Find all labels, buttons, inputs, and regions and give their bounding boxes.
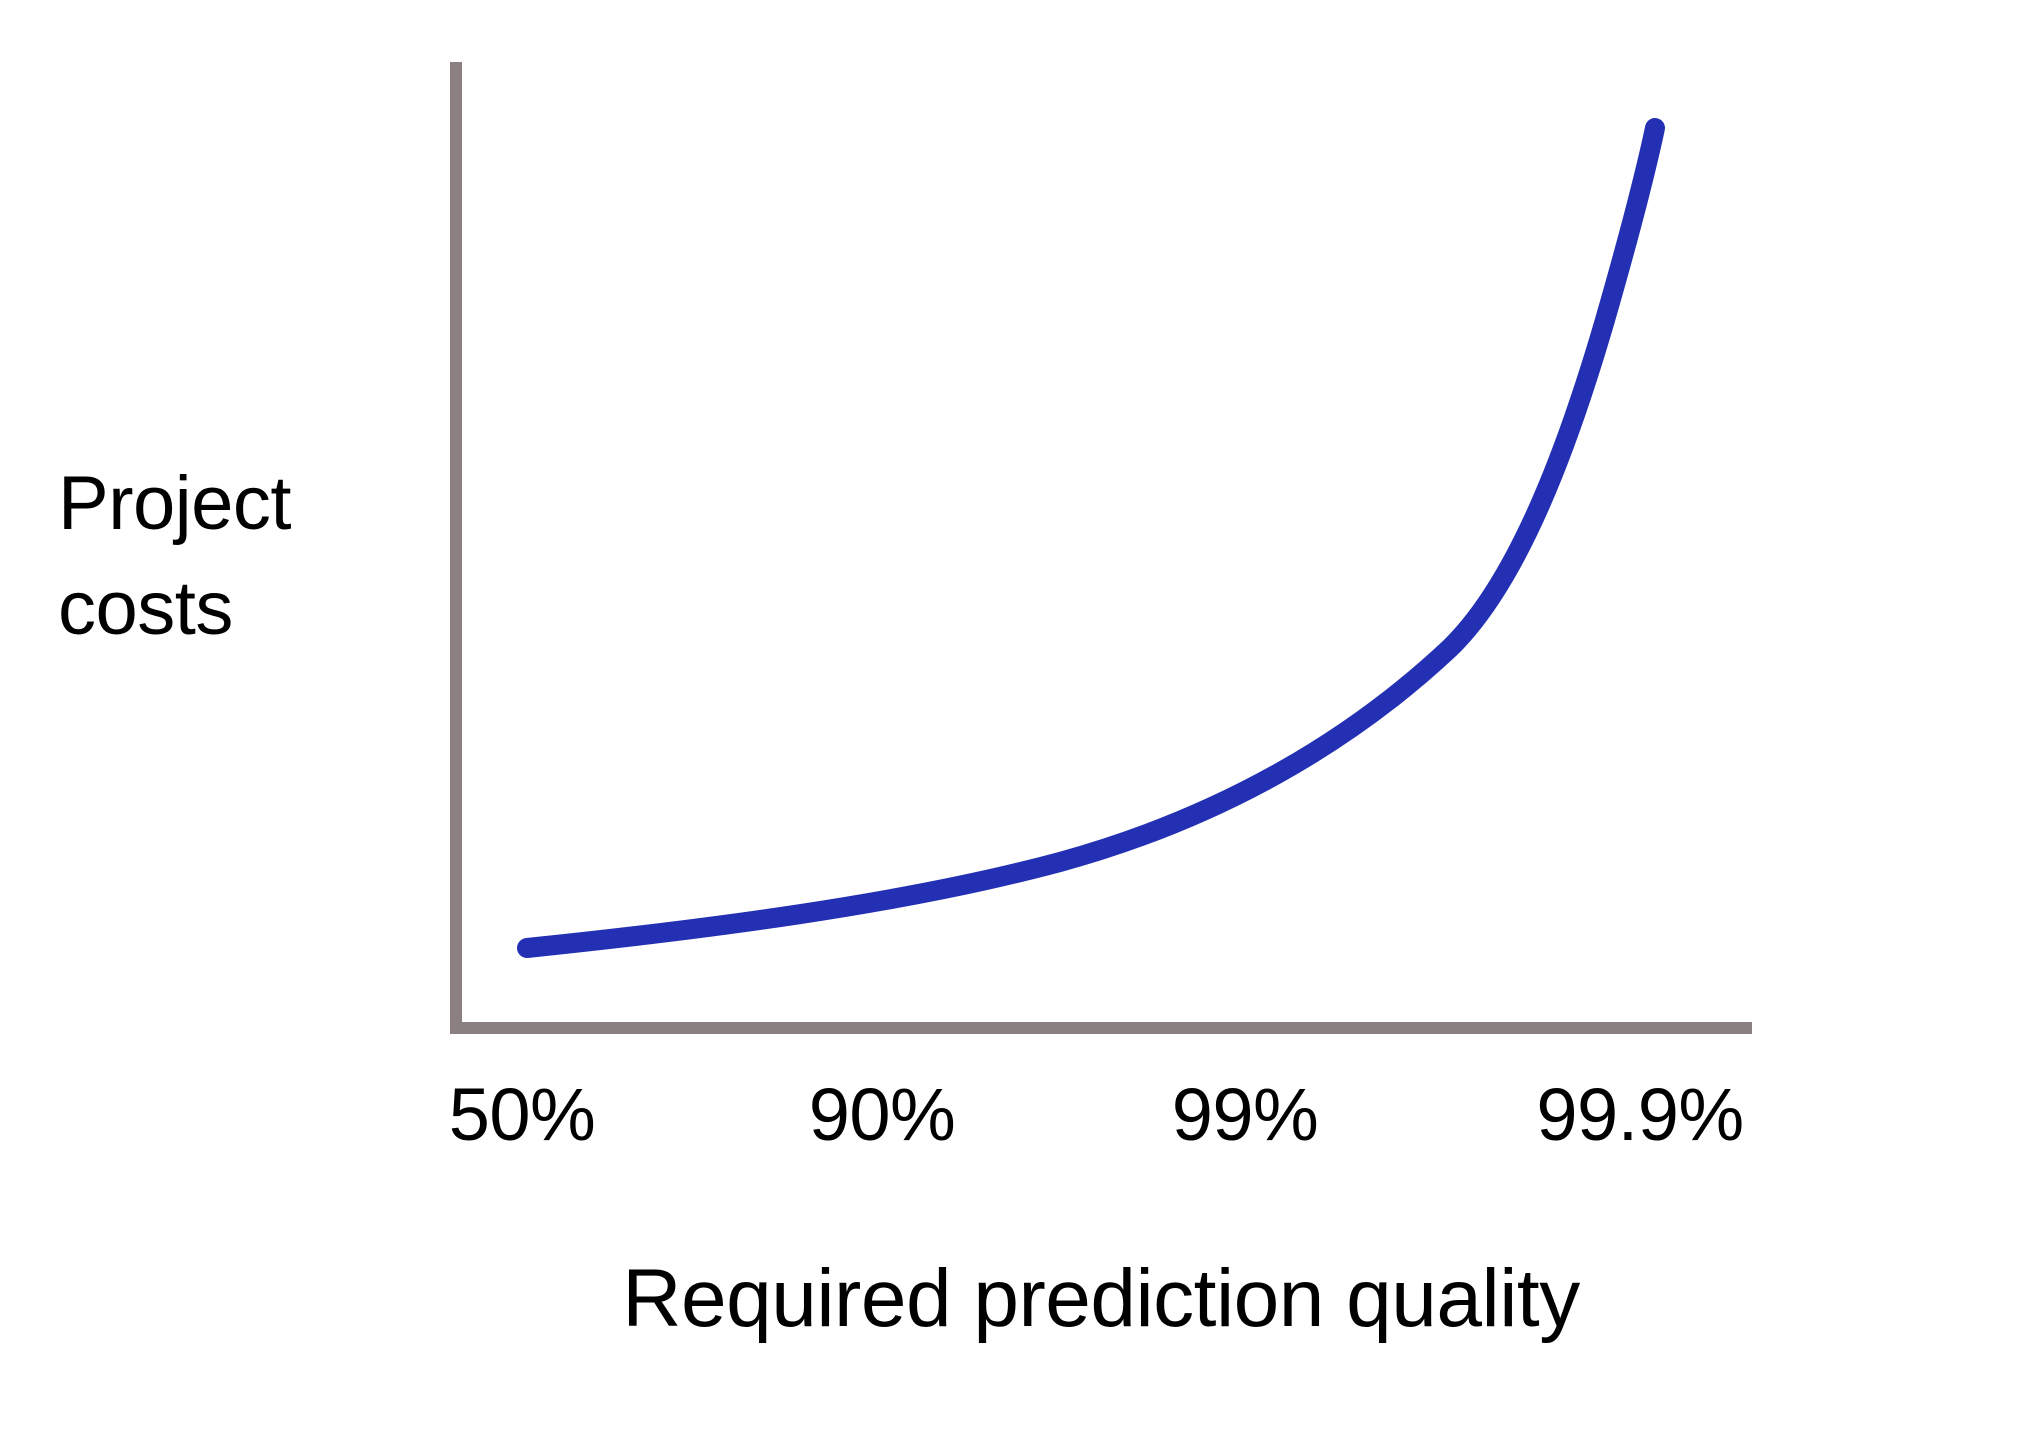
x-axis-title: Required prediction quality [622, 1258, 1579, 1340]
x-tick-label-50: 50% [449, 1078, 596, 1152]
x-tick-label-99: 99% [1172, 1078, 1319, 1152]
cost-curve-line [527, 128, 1655, 948]
chart-figure: Project costs 50% 90% 99% 99.9% Required… [0, 0, 2036, 1444]
chart-plot-area [0, 0, 2036, 1444]
y-axis-label: Project costs [58, 452, 418, 662]
x-tick-label-90: 90% [809, 1078, 956, 1152]
x-tick-label-99-9: 99.9% [1536, 1078, 1743, 1152]
